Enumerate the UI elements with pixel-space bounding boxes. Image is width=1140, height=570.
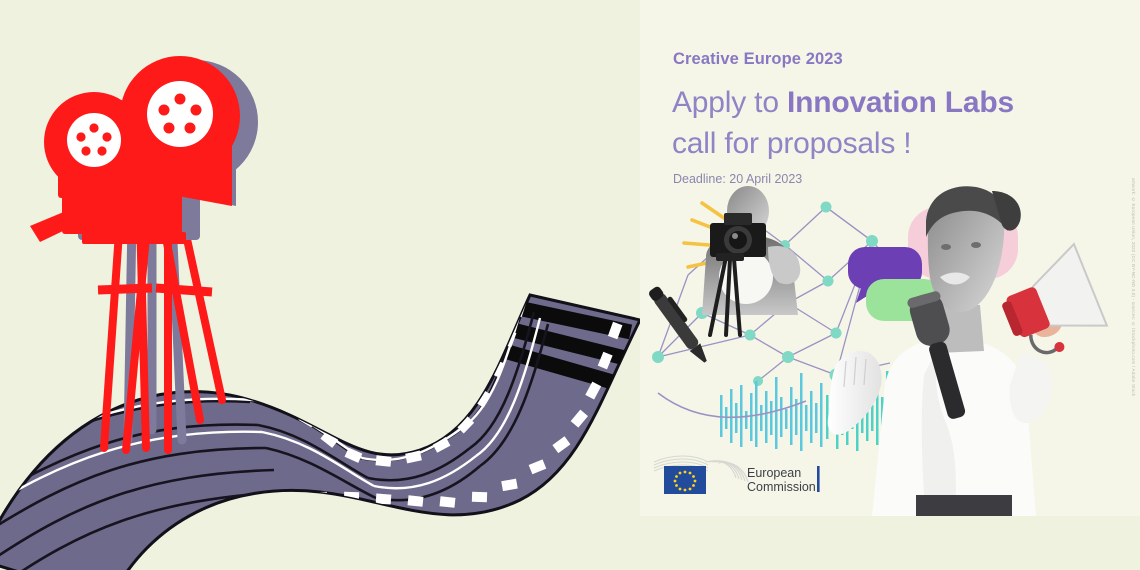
logo-divider-bar: [817, 466, 820, 492]
film-strip-graphic: [0, 279, 640, 570]
poster-headline: Apply to Innovation Labs call for propos…: [672, 82, 1102, 164]
film-camera-illustration: [0, 0, 640, 570]
screenshot-canvas: Creative Europe 2023 Apply to Innovation…: [0, 0, 1140, 570]
headline-pre: Apply to: [672, 86, 787, 119]
image-credit-text: artwork: © European Union, 2022 (CC BY-N…: [1131, 178, 1136, 396]
headline-line2: call for proposals !: [672, 127, 911, 160]
movie-camera-graphic: [30, 56, 258, 244]
headline-bold: Innovation Labs: [787, 86, 1014, 119]
logo-line1: European: [747, 466, 801, 480]
poster-deadline: Deadline: 20 April 2023: [673, 172, 802, 186]
poster-kicker: Creative Europe 2023: [673, 50, 843, 69]
creative-europe-poster: Creative Europe 2023 Apply to Innovation…: [640, 0, 1140, 516]
logo-line2: Commission: [747, 480, 816, 494]
european-commission-logo: European Commission: [650, 448, 825, 496]
